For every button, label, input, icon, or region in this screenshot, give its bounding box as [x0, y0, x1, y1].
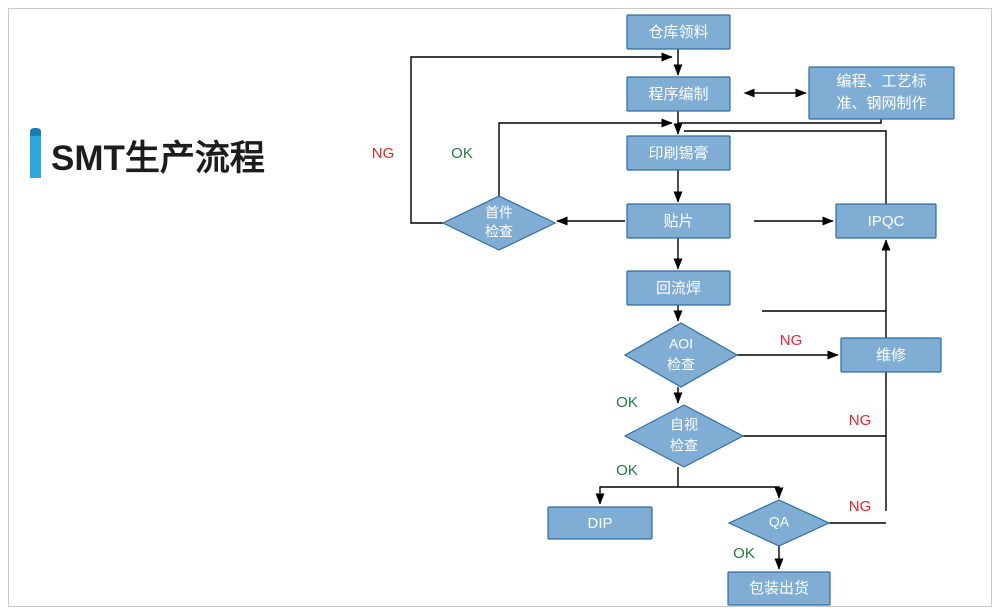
node-dip-label: DIP: [587, 515, 612, 532]
node-qa-label: QA: [769, 514, 790, 530]
edge-label-ng-qa: NG: [849, 498, 872, 515]
node-program-note-label-line1: 编程、工艺标: [836, 73, 926, 90]
slide-canvas: SMT生产流程: [0, 0, 1000, 615]
node-aoi-check[interactable]: AOI 检查: [625, 323, 737, 387]
node-visual-check-label-line1: 自视: [670, 417, 698, 433]
edge-label-ok-aoi: OK: [616, 394, 638, 411]
node-first-article-check-label-line2: 检查: [485, 224, 513, 240]
node-first-article-check[interactable]: 首件 检查: [443, 196, 555, 250]
node-program-note-label-line2: 准、钢网制作: [836, 95, 926, 112]
node-mount[interactable]: 贴片: [627, 204, 730, 238]
node-mount-label: 贴片: [663, 213, 693, 230]
node-program-note[interactable]: 编程、工艺标 准、钢网制作: [809, 67, 954, 119]
edge-label-ok-firstcheck: OK: [451, 145, 473, 162]
node-aoi-check-label-line1: AOI: [669, 336, 693, 352]
edge-label-ng-firstcheck: NG: [372, 145, 395, 162]
node-ipqc-label: IPQC: [868, 213, 905, 230]
edge-label-ok-visual: OK: [616, 462, 638, 479]
node-solder-print[interactable]: 印刷锡膏: [627, 136, 730, 170]
node-first-article-check-label-line1: 首件: [485, 205, 513, 221]
node-visual-check[interactable]: 自视 检查: [625, 405, 743, 467]
node-dip[interactable]: DIP: [548, 507, 652, 539]
edge-label-ng-aoi: NG: [780, 332, 803, 349]
node-program-label: 程序编制: [648, 86, 708, 103]
node-warehouse[interactable]: 仓库领料: [627, 15, 730, 49]
smt-process-flowchart: 仓库领料 程序编制 编程、工艺标 准、钢网制作 印刷锡膏 首件 检查 贴片: [0, 0, 1000, 615]
node-repair-label: 维修: [876, 347, 906, 364]
node-repair[interactable]: 维修: [841, 338, 941, 372]
node-pack-ship[interactable]: 包装出货: [728, 572, 830, 605]
node-reflow-label: 回流焊: [656, 280, 701, 297]
edge-label-ok-qa: OK: [733, 545, 755, 562]
node-pack-ship-label: 包装出货: [749, 580, 809, 597]
node-reflow[interactable]: 回流焊: [627, 271, 730, 305]
node-qa[interactable]: QA: [729, 500, 829, 546]
edge-visual-qa: [678, 487, 779, 498]
connectors: [411, 49, 886, 569]
node-aoi-check-label-line2: 检查: [667, 357, 695, 373]
edge-visual-dip: [600, 487, 678, 504]
node-ipqc[interactable]: IPQC: [836, 204, 936, 238]
node-visual-check-label-line2: 检查: [670, 438, 698, 454]
node-warehouse-label: 仓库领料: [648, 24, 708, 41]
edge-label-ng-visual: NG: [849, 412, 872, 429]
node-program[interactable]: 程序编制: [627, 77, 730, 111]
node-solder-print-label: 印刷锡膏: [648, 145, 708, 162]
